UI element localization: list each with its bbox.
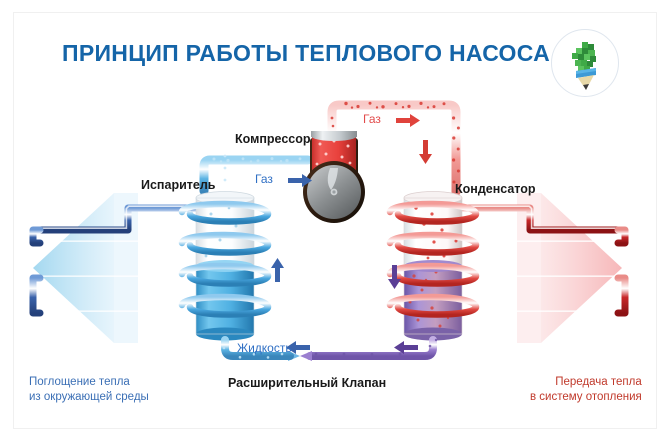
footer-heat-transfer: Передача тепла в систему отопления bbox=[530, 375, 642, 405]
brand-logo[interactable] bbox=[551, 29, 619, 97]
footer-heat-transfer-line1: Передача тепла bbox=[530, 375, 642, 390]
footer-heat-transfer-line2: в систему отопления bbox=[530, 390, 642, 405]
label-liquid: Жидкость bbox=[237, 341, 292, 355]
footer-heat-absorb: Поглощение тепла из окружающей среды bbox=[29, 375, 149, 405]
label-expansion-valve: Расширительный Клапан bbox=[228, 376, 386, 390]
label-gas-cold: Газ bbox=[255, 172, 273, 186]
pixel-tree-pencil-icon bbox=[552, 30, 618, 96]
diagram-canvas: ПРИНЦИП РАБОТЫ ТЕПЛОВОГО НАСОСА Испарите… bbox=[0, 0, 670, 441]
footer-heat-absorb-line2: из окружающей среды bbox=[29, 390, 149, 405]
label-evaporator: Испаритель bbox=[141, 178, 215, 192]
label-condenser: Конденсатор bbox=[455, 182, 536, 196]
label-gas-hot: Газ bbox=[363, 112, 381, 126]
label-compressor: Компрессор bbox=[235, 132, 311, 146]
footer-heat-absorb-line1: Поглощение тепла bbox=[29, 375, 149, 390]
page-title: ПРИНЦИП РАБОТЫ ТЕПЛОВОГО НАСОСА bbox=[62, 40, 550, 67]
